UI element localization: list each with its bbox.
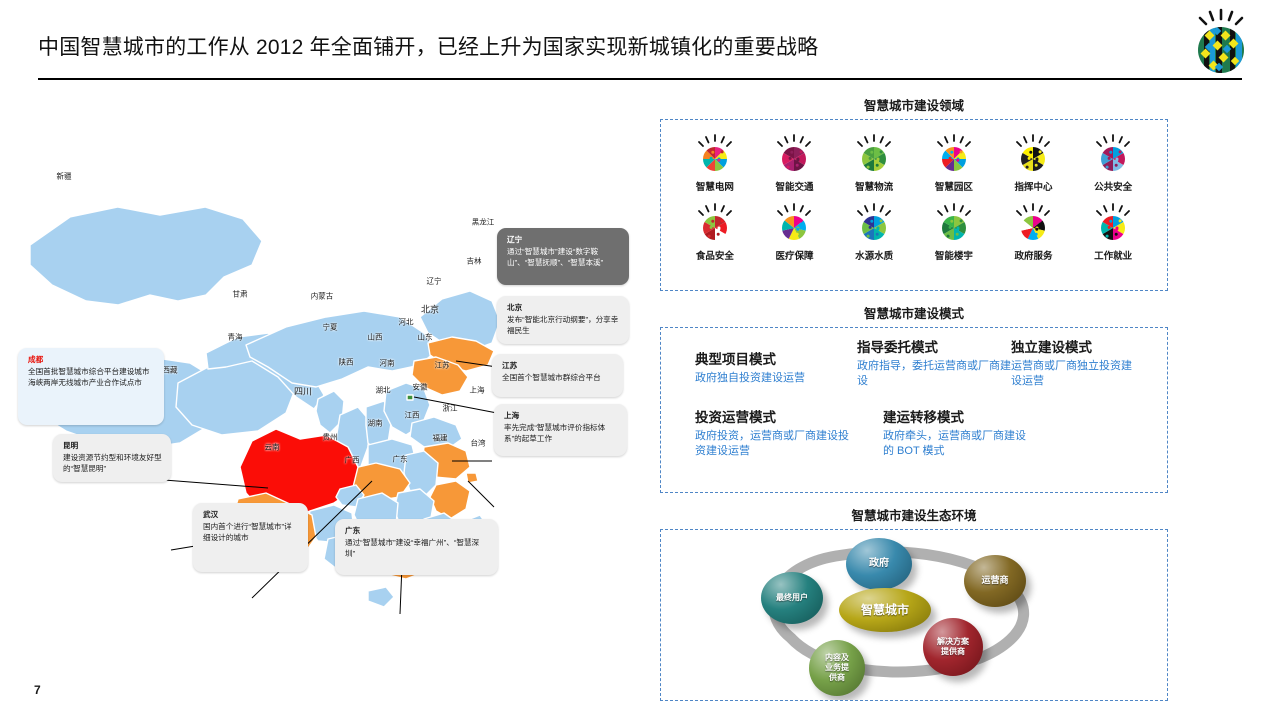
province-label: 新疆 [57, 171, 72, 182]
mode-body: 政府独自投资建设运营 [695, 371, 855, 386]
mode-heading: 投资运营模式 [695, 406, 855, 426]
callout-title: 江苏 [502, 361, 614, 372]
province-label: 湖南 [368, 418, 383, 429]
employment-icon [1090, 202, 1136, 246]
page-title: 中国智慧城市的工作从 2012 年全面铺开，已经上升为国家实现新城镇化的重要战略 [38, 31, 818, 61]
mode-block-2: 指导委托模式政府指导，委托运营商或厂商建设 [857, 336, 1017, 389]
domain-item-label: 指挥中心 [1014, 179, 1052, 193]
domain-item-12[interactable]: 工作就业 [1073, 202, 1153, 262]
callout-chengdu: 成都全国首批智慧城市综合平台建设城市 海峡两岸无线城市产业合作试点市 [18, 348, 164, 425]
callout-title: 成都 [28, 355, 155, 366]
modes-panel: 典型项目模式政府独自投资建设运营指导委托模式政府指导，委托运营商或厂商建设独立建… [660, 327, 1168, 493]
province-label: 内蒙古 [311, 291, 334, 302]
mode-body: 政府指导，委托运营商或厂商建设 [857, 359, 1017, 389]
province-label: 江西 [405, 410, 420, 421]
province-label: 宁夏 [323, 322, 338, 333]
callout-title: 辽宁 [507, 235, 620, 246]
domain-item-label: 公共安全 [1094, 179, 1132, 193]
ecosystem-node-3[interactable]: 最终用户 [761, 572, 823, 624]
callout-liaoning: 辽宁通过“智慧城市”建设“数字鞍山”、“智慧抚顺”、“智慧本溪” [497, 228, 629, 285]
province-beijing [407, 395, 413, 400]
province-label: 安徽 [413, 382, 428, 393]
mode-heading: 建运转移模式 [883, 406, 1033, 426]
province-label: 青海 [228, 332, 243, 343]
smart-traffic-icon [771, 133, 817, 177]
province-label: 吉林 [467, 256, 482, 267]
mode-heading: 独立建设模式 [1011, 336, 1139, 356]
mode-block-1: 典型项目模式政府独自投资建设运营 [695, 348, 855, 386]
domain-item-label: 政府服务 [1014, 248, 1052, 262]
domain-item-label: 智能楼宇 [935, 248, 973, 262]
ibm-smarter-planet-logo [1190, 8, 1252, 76]
gov-service-icon [1010, 202, 1056, 246]
china-map-region: 新疆黑龙江吉林辽宁甘肃内蒙古北京河北宁夏青海山西山东陕西河南江苏西藏四川湖北安徽… [0, 95, 655, 695]
province-label: 广西 [345, 455, 360, 466]
ecosystem-node-label: 政府 [869, 558, 889, 571]
province-label: 河北 [399, 317, 414, 328]
ecosystem-node-label: 最终用户 [776, 593, 808, 603]
mode-block-5: 建运转移模式政府牵头，运营商或厂商建设的 BOT 模式 [883, 406, 1033, 459]
province-label: 浙江 [443, 403, 458, 414]
domain-item-label: 医疗保障 [775, 248, 813, 262]
modes-section: 智慧城市建设模式 典型项目模式政府独自投资建设运营指导委托模式政府指导，委托运营… [660, 303, 1168, 493]
callout-body: 全国首个智慧城市群综合平台 [502, 373, 614, 384]
province-label: 福建 [433, 433, 448, 444]
domain-item-label: 智能交通 [775, 179, 813, 193]
domain-item-1[interactable]: 智慧电网 [675, 133, 755, 193]
domain-item-11[interactable]: 政府服务 [994, 202, 1074, 262]
ecosystem-node-6[interactable]: 内容及 业务提 供商 [809, 640, 865, 696]
province-shanghai [466, 473, 478, 483]
province-zhejiang [430, 481, 470, 519]
domain-item-2[interactable]: 智能交通 [755, 133, 835, 193]
province-xinjiang [30, 207, 262, 305]
healthcare-icon [771, 202, 817, 246]
ecosystem-node-label: 内容及 业务提 供商 [825, 653, 849, 683]
domain-item-6[interactable]: 公共安全 [1073, 133, 1153, 193]
callout-wuhan: 武汉国内首个进行“智慧城市”详细设计的城市 [193, 503, 308, 572]
domain-item-label: 水源水质 [855, 248, 893, 262]
province-label: 黑龙江 [472, 217, 495, 228]
province-label: 河南 [380, 358, 395, 369]
callout-body: 通过“智慧城市”建设“数字鞍山”、“智慧抚顺”、“智慧本溪” [507, 247, 620, 269]
domain-item-label: 工作就业 [1094, 248, 1132, 262]
domain-item-10[interactable]: 智能楼宇 [914, 202, 994, 262]
province-label: 广东 [393, 454, 408, 465]
smart-grid-icon [692, 133, 738, 177]
domains-section-title: 智慧城市建设领域 [660, 95, 1168, 114]
mode-body: 政府投资，运营商或厂商建设投资建设运营 [695, 429, 855, 459]
province-label: 辽宁 [427, 276, 442, 287]
callout-title: 广东 [345, 526, 489, 537]
callout-beijing: 北京发布“智能北京行动纲要”，分享幸福民生 [497, 296, 629, 344]
domains-panel: 智慧电网智能交通智慧物流智慧园区指挥中心公共安全食品安全医疗保障水源水质智能楼宇… [660, 119, 1168, 291]
domain-item-7[interactable]: 食品安全 [675, 202, 755, 262]
callout-body: 发布“智能北京行动纲要”，分享幸福民生 [507, 315, 620, 337]
province-label: 上海 [470, 385, 485, 396]
callout-body: 国内首个进行“智慧城市”详细设计的城市 [203, 522, 299, 544]
domain-item-9[interactable]: 水源水质 [834, 202, 914, 262]
ecosystem-section: 智慧城市建设生态环境 政府运营商最终用户智慧城市解决方案 提供商内容及 业务提 … [660, 505, 1168, 701]
command-center-icon [1010, 133, 1056, 177]
mode-body: 运营商或厂商独立投资建设运营 [1011, 359, 1139, 389]
domain-icon-grid: 智慧电网智能交通智慧物流智慧园区指挥中心公共安全食品安全医疗保障水源水质智能楼宇… [675, 133, 1153, 262]
callout-body: 建设资源节约型和环境友好型的“智慧昆明” [63, 453, 162, 475]
province-label: 山东 [418, 332, 433, 343]
province-label: 山西 [368, 332, 383, 343]
domain-item-label: 食品安全 [696, 248, 734, 262]
domain-item-3[interactable]: 智慧物流 [834, 133, 914, 193]
province-label: 北京 [421, 303, 439, 316]
domain-item-5[interactable]: 指挥中心 [994, 133, 1074, 193]
public-safety-icon [1090, 133, 1136, 177]
callout-shanghai: 上海率先完成“智慧城市评价指标体系”的起草工作 [494, 404, 627, 456]
ecosystem-node-1[interactable]: 政府 [846, 538, 912, 590]
smart-logistics-icon [851, 133, 897, 177]
domain-item-label: 智慧电网 [696, 179, 734, 193]
slide-header: 中国智慧城市的工作从 2012 年全面铺开，已经上升为国家实现新城镇化的重要战略 [0, 0, 1280, 86]
province-label: 湖北 [376, 385, 391, 396]
callout-title: 上海 [504, 411, 618, 422]
ecosystem-node-label: 运营商 [981, 575, 1008, 586]
callout-jiangsu: 江苏全国首个智慧城市群综合平台 [492, 354, 623, 397]
province-label: 甘肃 [233, 289, 248, 300]
province-label: 陕西 [339, 357, 354, 368]
province-label: 西藏 [163, 365, 178, 376]
callout-title: 昆明 [63, 441, 162, 452]
mode-body: 政府牵头，运营商或厂商建设的 BOT 模式 [883, 429, 1033, 459]
ecosystem-node-label: 解决方案 提供商 [937, 637, 969, 657]
ecosystem-node-5[interactable]: 解决方案 提供商 [923, 618, 983, 676]
domains-section: 智慧城市建设领域 智慧电网智能交通智慧物流智慧园区指挥中心公共安全食品安全医疗保… [660, 95, 1168, 291]
callout-title: 北京 [507, 303, 620, 314]
ecosystem-node-label: 智慧城市 [861, 603, 909, 618]
smart-building-icon [931, 202, 977, 246]
domain-item-label: 智慧园区 [935, 179, 973, 193]
mode-heading: 指导委托模式 [857, 336, 1017, 356]
callout-title: 武汉 [203, 510, 299, 521]
callout-body: 率先完成“智慧城市评价指标体系”的起草工作 [504, 423, 618, 445]
callout-kunming: 昆明建设资源节约型和环境友好型的“智慧昆明” [53, 434, 171, 482]
right-column: 智慧城市建设领域 智慧电网智能交通智慧物流智慧园区指挥中心公共安全食品安全医疗保… [660, 95, 1168, 701]
province-hainan [368, 587, 394, 607]
ecosystem-panel: 政府运营商最终用户智慧城市解决方案 提供商内容及 业务提 供商 [660, 529, 1168, 701]
domain-item-4[interactable]: 智慧园区 [914, 133, 994, 193]
ecosystem-node-4[interactable]: 智慧城市 [839, 588, 931, 632]
domain-item-8[interactable]: 医疗保障 [755, 202, 835, 262]
province-label: 贵州 [323, 432, 338, 443]
water-quality-icon [851, 202, 897, 246]
callout-guangdong: 广东通过“智慧城市”建设“幸福广州”、“智慧深圳” [335, 519, 498, 575]
modes-section-title: 智慧城市建设模式 [660, 303, 1168, 322]
smart-park-icon [931, 133, 977, 177]
mode-block-3: 独立建设模式运营商或厂商独立投资建设运营 [1011, 336, 1139, 389]
province-label: 四川 [294, 385, 312, 398]
ecosystem-section-title: 智慧城市建设生态环境 [660, 505, 1168, 524]
food-safety-icon [692, 202, 738, 246]
callout-body: 全国首批智慧城市综合平台建设城市 海峡两岸无线城市产业合作试点市 [28, 367, 155, 389]
mode-block-4: 投资运营模式政府投资，运营商或厂商建设投资建设运营 [695, 406, 855, 459]
ecosystem-node-2[interactable]: 运营商 [964, 555, 1026, 607]
mode-heading: 典型项目模式 [695, 348, 855, 368]
province-label: 台湾 [471, 438, 486, 449]
header-divider [38, 78, 1242, 80]
province-label: 江苏 [435, 360, 450, 371]
callout-body: 通过“智慧城市”建设“幸福广州”、“智慧深圳” [345, 538, 489, 560]
domain-item-label: 智慧物流 [855, 179, 893, 193]
province-label: 云南 [265, 442, 280, 453]
